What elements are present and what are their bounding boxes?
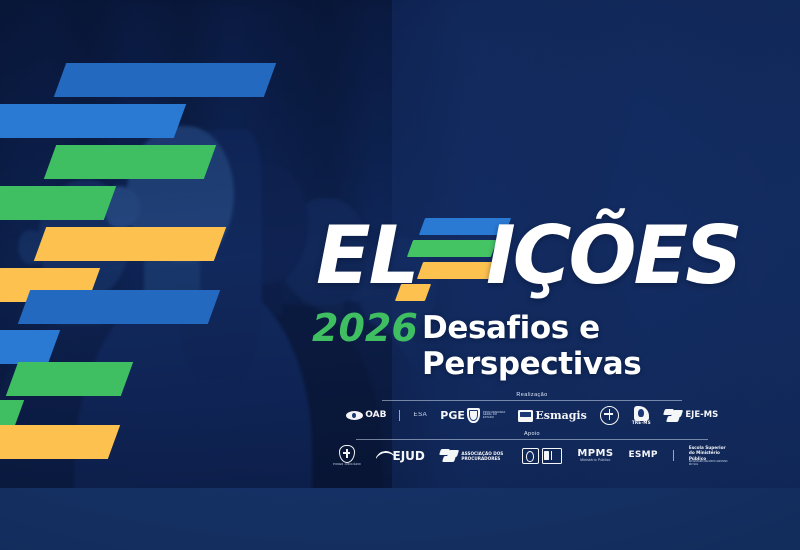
defensoria-badge-icon <box>522 448 539 464</box>
logo-lockup: EL IÇÕES 2026 Desafios e Perspectivas <box>312 212 742 350</box>
e-mark-bar-3 <box>417 262 495 279</box>
tre-ms-label: TRE-MS <box>632 421 651 425</box>
judiciary-label: PODER JUDICIÁRIO <box>333 464 361 467</box>
realizacao-band: Realização OAB ESA PGE PROCURADORIA GERA… <box>332 392 732 425</box>
escola-superior-sublabel: DO ESTADO DE MATO GROSSO DO SUL <box>689 461 731 466</box>
partner-logo-esa: ESA <box>413 412 427 418</box>
apoio-logo-row: PODER JUDICIÁRIO EJUD ASSOCIAÇÃO DOS PRO… <box>332 445 732 466</box>
decorative-stripe-11 <box>0 425 120 459</box>
partner-logo-mpms: MPMS Ministério Público <box>577 449 613 463</box>
mpms-label: MPMS <box>577 449 613 459</box>
realizacao-label: Realização <box>332 392 732 398</box>
defensoria-doc-icon <box>542 448 563 464</box>
ejud-arc-icon <box>376 449 396 462</box>
apoio-label: Apoio <box>332 431 732 437</box>
pge-shield-icon <box>467 408 480 423</box>
partner-logo-ejud: EJUD <box>376 449 425 462</box>
esmagis-book-icon <box>518 410 533 422</box>
decorative-stripe-3 <box>44 145 216 179</box>
pge-label: PGE <box>440 410 465 421</box>
partner-logo-tjms <box>600 406 619 425</box>
esmagis-label: Esmagis <box>535 410 586 421</box>
partner-logo-eje-ms: EJE-MS <box>664 409 718 423</box>
wordmark-part-icoes: IÇÕES <box>486 212 740 300</box>
mpms-sublabel: Ministério Público <box>580 459 610 462</box>
e-mark-bar-4 <box>395 284 431 301</box>
decorative-stripe-1 <box>54 63 276 97</box>
partner-logo-oab: OAB <box>346 411 387 420</box>
oab-label: OAB <box>365 411 386 420</box>
partner-logo-poder-judiciario: PODER JUDICIÁRIO <box>333 445 361 466</box>
ejud-label: EJUD <box>393 450 425 462</box>
escola-superior-label: Escola Superior do Ministério Público <box>689 445 729 461</box>
wordmark: EL IÇÕES <box>312 212 742 304</box>
procuradores-label: ASSOCIAÇÃO DOS PROCURADORES <box>461 451 507 461</box>
event-year: 2026 <box>312 308 418 348</box>
event-tagline: Desafios e Perspectivas <box>422 310 742 382</box>
eje-ms-swoosh-icon <box>664 409 683 423</box>
partner-logo-procuradores: ASSOCIAÇÃO DOS PROCURADORES <box>440 449 508 463</box>
esmp-label: ESMP <box>628 451 657 460</box>
partner-logo-tre-ms: TRE-MS <box>632 406 651 425</box>
esa-label: ESA <box>413 412 427 418</box>
logo-separator <box>399 410 400 421</box>
subline: 2026 Desafios e Perspectivas <box>312 306 742 350</box>
pge-sublabel: PROCURADORIA GERAL DO ESTADO <box>483 412 505 420</box>
decorative-stripe-4 <box>0 186 116 220</box>
partner-logo-pge: PGE PROCURADORIA GERAL DO ESTADO <box>440 408 505 423</box>
realizacao-divider <box>382 400 682 401</box>
partners-section: Realização OAB ESA PGE PROCURADORIA GERA… <box>332 392 732 472</box>
procuradores-swoosh-icon <box>440 449 459 463</box>
eje-ms-label: EJE-MS <box>685 411 718 420</box>
decorative-stripe-2 <box>0 104 186 138</box>
apoio-band: Apoio PODER JUDICIÁRIO EJUD ASSOCIAÇÃO D… <box>332 431 732 466</box>
logo-separator <box>673 450 674 461</box>
oab-oval-icon <box>346 411 363 420</box>
decorative-stripe-7 <box>18 290 220 324</box>
e-mark-bar-2 <box>407 240 497 257</box>
partner-logo-defensoria <box>522 448 562 464</box>
tjms-seal-icon <box>600 406 619 425</box>
realizacao-logo-row: OAB ESA PGE PROCURADORIA GERAL DO ESTADO… <box>332 406 732 425</box>
partner-logo-escola-superior-mp: Escola Superior do Ministério Público DO… <box>689 445 731 466</box>
apoio-divider <box>356 439 708 440</box>
partner-logo-esmp: ESMP <box>628 451 657 460</box>
decorative-stripe-8 <box>0 330 60 364</box>
decorative-stripe-5 <box>34 227 226 261</box>
decorative-stripe-9 <box>6 362 133 396</box>
tre-ms-icon <box>634 406 649 421</box>
event-banner: EL IÇÕES 2026 Desafios e Perspectivas Re… <box>0 0 800 550</box>
partner-logo-esmagis: Esmagis <box>518 410 587 422</box>
judiciary-shield-icon <box>339 445 355 463</box>
